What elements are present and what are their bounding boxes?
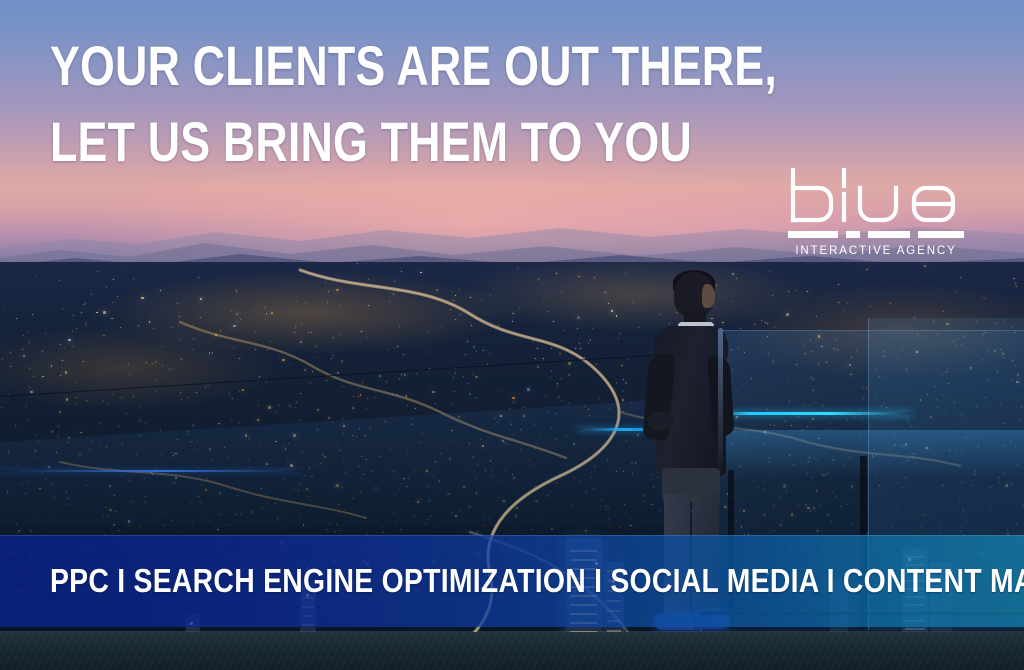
headline-line-1: YOUR CLIENTS ARE OUT THERE,: [50, 28, 658, 104]
logo-wordmark-blue-icon: [788, 168, 964, 230]
marketing-banner: YOUR CLIENTS ARE OUT THERE, LET US BRING…: [0, 0, 1024, 670]
crossed-hand: [648, 412, 674, 430]
terrace-floor: [0, 632, 1024, 670]
services-band-text-wrap: PPC I SEARCH ENGINE OPTIMIZATION I SOCIA…: [0, 535, 1024, 627]
brand-logo[interactable]: INTERACTIVE AGENCY: [788, 168, 964, 260]
services-list: PPC I SEARCH ENGINE OPTIMIZATION I SOCIA…: [50, 562, 1024, 600]
glass-railing-edge-left: [0, 396, 720, 446]
railing-reflection-glow: [0, 470, 300, 472]
face-profile: [702, 284, 715, 308]
rim-light: [718, 328, 723, 478]
logo-divider-rule: [788, 231, 964, 238]
page-title: YOUR CLIENTS ARE OUT THERE, LET US BRING…: [50, 28, 658, 180]
logo-tagline: INTERACTIVE AGENCY: [788, 245, 964, 257]
neon-reflection-line: [712, 412, 912, 415]
headline-line-2: LET US BRING THEM TO YOU: [50, 104, 658, 180]
